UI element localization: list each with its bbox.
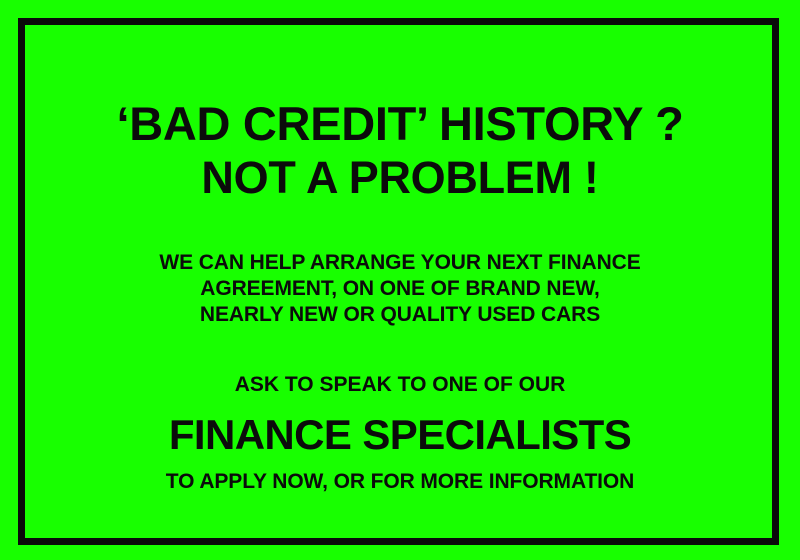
body-copy-block: WE CAN HELP ARRANGE YOUR NEXT FINANCE AG… — [0, 250, 800, 328]
call-to-action-block: ASK TO SPEAK TO ONE OF OUR FINANCE SPECI… — [0, 372, 800, 495]
body-line-2: AGREEMENT, ON ONE OF BRAND NEW, — [0, 276, 800, 302]
body-line-3: NEARLY NEW OR QUALITY USED CARS — [0, 302, 800, 328]
cta-lead-text: ASK TO SPEAK TO ONE OF OUR — [0, 372, 800, 398]
cta-main-heading: FINANCE SPECIALISTS — [0, 410, 800, 460]
headline-line-1: ‘BAD CREDIT’ HISTORY ? — [0, 96, 800, 152]
cta-footer-text: TO APPLY NOW, OR FOR MORE INFORMATION — [0, 469, 800, 495]
body-line-1: WE CAN HELP ARRANGE YOUR NEXT FINANCE — [0, 250, 800, 276]
poster-content: ‘BAD CREDIT’ HISTORY ? NOT A PROBLEM ! W… — [0, 0, 800, 560]
headline-line-2: NOT A PROBLEM ! — [0, 152, 800, 204]
advertisement-poster: ‘BAD CREDIT’ HISTORY ? NOT A PROBLEM ! W… — [0, 0, 800, 560]
headline-block: ‘BAD CREDIT’ HISTORY ? NOT A PROBLEM ! — [0, 96, 800, 204]
